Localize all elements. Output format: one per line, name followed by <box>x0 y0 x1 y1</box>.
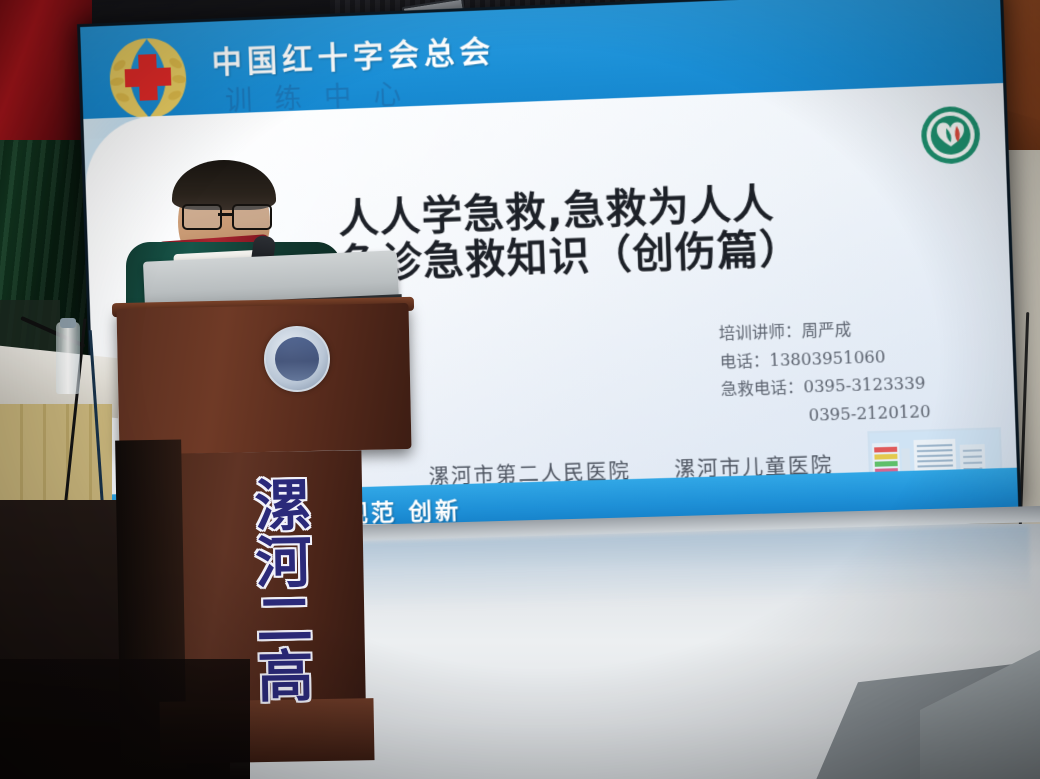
podium-sign-text: 漯 河 二 高 <box>246 477 322 707</box>
podium-sign-char-3: 二 <box>248 592 321 650</box>
red-cross-emblem <box>100 32 195 124</box>
podium-sign-char-1: 漯 <box>246 477 319 535</box>
presenter-hair <box>172 160 276 210</box>
slide-title: 人人学急救,急救为人人 急诊急救知识（创伤篇） <box>338 176 937 288</box>
hospital-emblem <box>914 102 987 168</box>
lecture-hall-scene: 中国红十字会总会 训练中心 人人学急救,急救为人人 急诊急救知识（创伤篇） 培训… <box>0 0 1040 779</box>
foreground-vignette <box>0 659 250 779</box>
water-bottle <box>56 322 80 394</box>
school-crest-inner <box>275 337 320 382</box>
water-bottle-cap <box>60 318 76 328</box>
contact-block: 培训讲师：周严成 电话：13803951060 急救电话：0395-312333… <box>718 310 1021 432</box>
podium-sign-char-4: 高 <box>249 649 322 707</box>
podium-sign-char-2: 河 <box>247 534 320 592</box>
glasses-icon <box>182 204 268 226</box>
podium-front-panel <box>117 303 412 455</box>
